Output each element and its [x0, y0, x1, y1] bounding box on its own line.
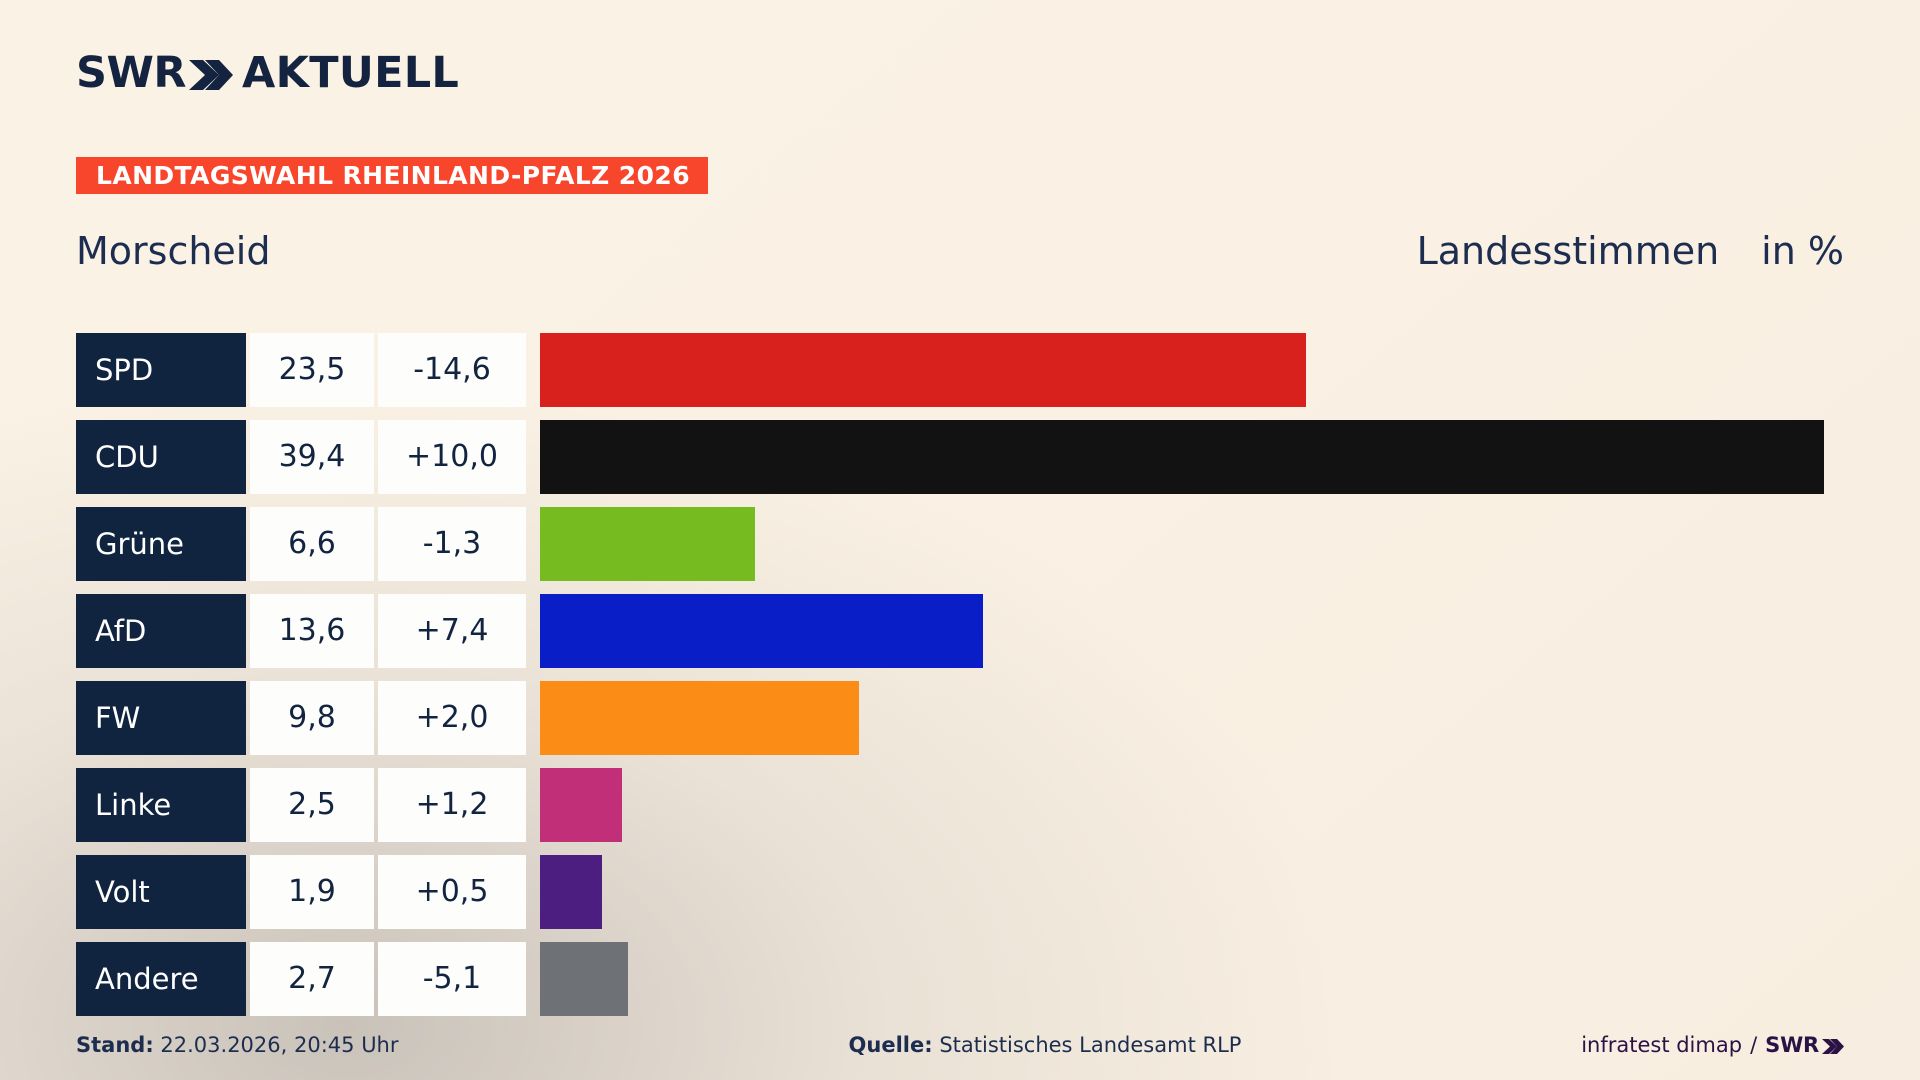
party-label-cell: Andere [76, 942, 246, 1016]
party-value: 13,6 [279, 616, 346, 646]
party-bar [540, 768, 622, 842]
party-change-cell: +7,4 [378, 594, 526, 668]
bar-track [540, 681, 1844, 755]
credit-agency: infratest dimap [1581, 1033, 1742, 1057]
election-banner: LANDTAGSWAHL RHEINLAND-PFALZ 2026 [76, 157, 708, 194]
logo-swr-text: SWR [76, 52, 186, 95]
stand-value: 22.03.2026, 20:45 Uhr [160, 1033, 398, 1057]
party-value: 6,6 [288, 529, 336, 559]
table-row: Linke 2,5 +1,2 [76, 768, 1844, 855]
bar-track [540, 855, 1844, 929]
party-name: FW [95, 704, 140, 733]
table-row: CDU 39,4 +10,0 [76, 420, 1844, 507]
bar-track [540, 768, 1844, 842]
party-change: +2,0 [416, 703, 489, 733]
party-bar [540, 855, 602, 929]
table-row: Andere 2,7 -5,1 [76, 942, 1844, 1029]
party-value: 23,5 [279, 355, 346, 385]
results-table: SPD 23,5 -14,6 CDU 39,4 +10,0 [76, 333, 1844, 1029]
party-change: +10,0 [406, 442, 498, 472]
source-info: Quelle: Statistisches Landesamt RLP [716, 1033, 1374, 1057]
stand-info: Stand: 22.03.2026, 20:45 Uhr [76, 1033, 716, 1057]
party-change-cell: -1,3 [378, 507, 526, 581]
party-name: Linke [95, 791, 171, 820]
party-value: 1,9 [288, 877, 336, 907]
party-label-cell: Grüne [76, 507, 246, 581]
party-bar [540, 507, 755, 581]
party-value: 2,7 [288, 964, 336, 994]
party-change: -14,6 [413, 355, 491, 385]
party-bar [540, 594, 983, 668]
bar-track [540, 942, 1844, 1016]
logo-aktuell-text: AKTUELL [242, 52, 459, 95]
party-value-cell: 6,6 [250, 507, 374, 581]
party-value-cell: 23,5 [250, 333, 374, 407]
party-change: +7,4 [416, 616, 489, 646]
double-chevron-right-icon [1822, 1038, 1844, 1055]
table-row: SPD 23,5 -14,6 [76, 333, 1844, 420]
party-change: +0,5 [416, 877, 489, 907]
quelle-label: Quelle: [849, 1033, 933, 1057]
party-change-cell: +10,0 [378, 420, 526, 494]
party-value: 2,5 [288, 790, 336, 820]
party-value-cell: 1,9 [250, 855, 374, 929]
bar-track [540, 594, 1844, 668]
double-chevron-right-icon [189, 58, 233, 92]
subheader-right-group: Landesstimmen in % [1417, 232, 1844, 270]
party-name: CDU [95, 443, 159, 472]
credit-broadcaster: SWR [1765, 1033, 1819, 1057]
party-name: Andere [95, 965, 199, 994]
party-label-cell: Linke [76, 768, 246, 842]
party-change: -1,3 [423, 529, 482, 559]
party-change: -5,1 [423, 964, 482, 994]
subheader: Morscheid Landesstimmen in % [76, 225, 1844, 277]
party-value-cell: 2,7 [250, 942, 374, 1016]
party-label-cell: AfD [76, 594, 246, 668]
party-change: +1,2 [416, 790, 489, 820]
table-row: Volt 1,9 +0,5 [76, 855, 1844, 942]
party-bar [540, 681, 859, 755]
region-name: Morscheid [76, 232, 271, 270]
party-change-cell: +0,5 [378, 855, 526, 929]
vote-type-label: Landesstimmen [1417, 232, 1720, 270]
bar-track [540, 420, 1844, 494]
quelle-value: Statistisches Landesamt RLP [939, 1033, 1241, 1057]
party-bar [540, 942, 628, 1016]
party-name: AfD [95, 617, 146, 646]
party-name: SPD [95, 356, 153, 385]
party-label-cell: FW [76, 681, 246, 755]
swr-aktuell-logo: SWR AKTUELL [76, 52, 459, 95]
election-result-graphic: SWR AKTUELL LANDTAGSWAHL RHEINLAND-PFALZ… [0, 0, 1920, 1080]
party-name: Grüne [95, 530, 184, 559]
credit-info: infratest dimap / SWR [1374, 1033, 1844, 1057]
party-change-cell: -5,1 [378, 942, 526, 1016]
table-row: FW 9,8 +2,0 [76, 681, 1844, 768]
party-bar [540, 333, 1306, 407]
party-value: 9,8 [288, 703, 336, 733]
unit-label: in % [1761, 232, 1844, 270]
party-label-cell: SPD [76, 333, 246, 407]
party-value-cell: 39,4 [250, 420, 374, 494]
bar-track [540, 507, 1844, 581]
party-label-cell: Volt [76, 855, 246, 929]
party-label-cell: CDU [76, 420, 246, 494]
credit-separator: / [1750, 1033, 1757, 1057]
table-row: Grüne 6,6 -1,3 [76, 507, 1844, 594]
party-value: 39,4 [279, 442, 346, 472]
party-change-cell: -14,6 [378, 333, 526, 407]
stand-label: Stand: [76, 1033, 154, 1057]
party-bar [540, 420, 1824, 494]
party-value-cell: 9,8 [250, 681, 374, 755]
party-change-cell: +2,0 [378, 681, 526, 755]
footer: Stand: 22.03.2026, 20:45 Uhr Quelle: Sta… [76, 1028, 1844, 1062]
election-banner-label: LANDTAGSWAHL RHEINLAND-PFALZ 2026 [96, 163, 690, 188]
party-value-cell: 2,5 [250, 768, 374, 842]
party-name: Volt [95, 878, 150, 907]
party-change-cell: +1,2 [378, 768, 526, 842]
table-row: AfD 13,6 +7,4 [76, 594, 1844, 681]
party-value-cell: 13,6 [250, 594, 374, 668]
bar-track [540, 333, 1844, 407]
